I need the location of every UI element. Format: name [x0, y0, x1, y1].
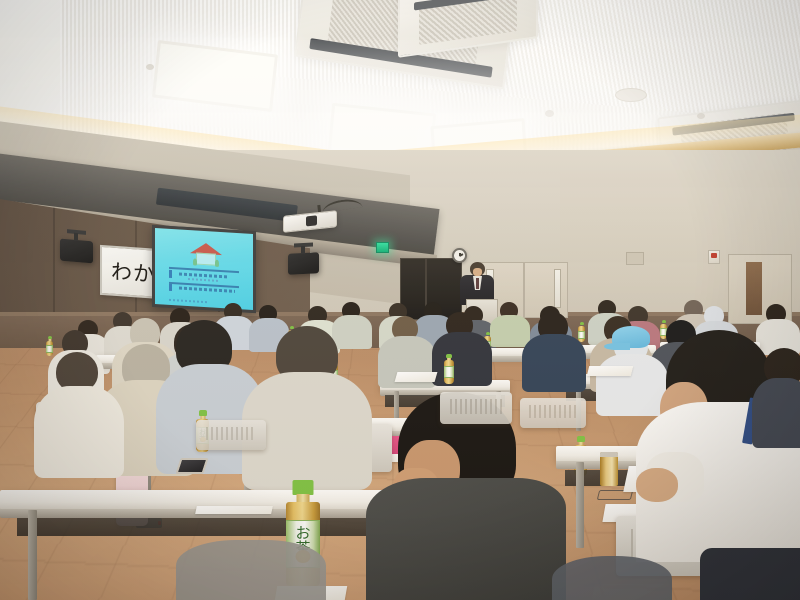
- exit-sign: [376, 242, 389, 253]
- slide-subtitle-text: [188, 278, 217, 282]
- presenter-tie: [476, 278, 479, 289]
- sprinkler-head-icon: [146, 64, 154, 70]
- door-glass-panel: [554, 269, 562, 308]
- trousers: [700, 548, 800, 600]
- fire-alarm-box[interactable]: [708, 250, 720, 264]
- projection-screen: [152, 225, 256, 313]
- green-tea-bottle: [46, 336, 53, 356]
- projected-slide: [155, 228, 253, 310]
- handout-papers: [395, 372, 438, 382]
- green-tea-bottle: [578, 322, 585, 342]
- tablet-device[interactable]: [175, 458, 208, 474]
- gold-can: [600, 452, 618, 486]
- chair: [440, 392, 512, 424]
- soffit-recess: [156, 187, 298, 222]
- clock-minute-hand: [460, 253, 464, 256]
- chair: [520, 398, 586, 428]
- pen: [195, 506, 273, 514]
- seminar-room-photo: わか: [0, 0, 800, 600]
- hand: [636, 468, 678, 502]
- green-tea-bottle: [444, 354, 454, 384]
- room-name-sign-text: わか: [102, 255, 155, 289]
- sprinkler-head-icon: [697, 113, 705, 119]
- ceiling-speaker-grille: [615, 88, 647, 102]
- wall-speaker: [288, 252, 319, 275]
- slide-title-text: [179, 272, 230, 278]
- projector-lens-icon: [306, 215, 317, 226]
- wall-clock: [452, 248, 467, 263]
- presenter-face: [473, 268, 482, 276]
- house-logo-icon: [190, 242, 219, 264]
- sprinkler-head-icon: [545, 110, 554, 117]
- light-blue-cap: [612, 326, 650, 348]
- chair: [196, 420, 266, 450]
- handout-papers: [587, 366, 633, 376]
- wall-speaker: [60, 239, 93, 264]
- wall-access-panel: [626, 252, 644, 265]
- slide-footer-text: [169, 299, 208, 303]
- door-wood-panel: [746, 262, 762, 315]
